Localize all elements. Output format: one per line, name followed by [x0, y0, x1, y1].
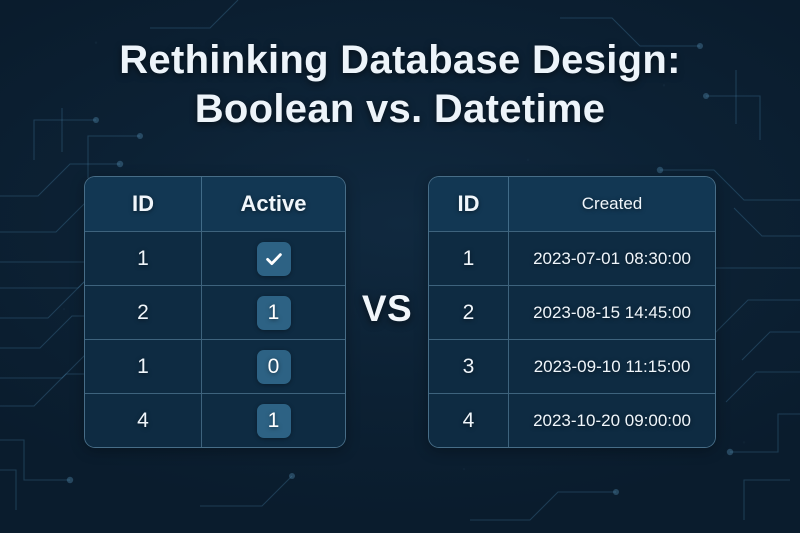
- cell-active: 1: [201, 286, 345, 339]
- cell-id: 2: [429, 286, 508, 339]
- page-title-line-1: Rethinking Database Design:: [0, 36, 800, 85]
- cell-id: 1: [429, 232, 508, 285]
- cell-id: 4: [85, 394, 201, 447]
- table-row[interactable]: 2 1: [85, 285, 345, 339]
- value-badge: 1: [257, 404, 291, 438]
- cell-id: 1: [85, 340, 201, 393]
- cell-id: 1: [85, 232, 201, 285]
- cell-created: 2023-10-20 09:00:00: [508, 394, 715, 447]
- page-title-line-2: Boolean vs. Datetime: [0, 85, 800, 134]
- cell-created: 2023-09-10 11:15:00: [508, 340, 715, 393]
- table-row[interactable]: 1: [85, 231, 345, 285]
- column-header-id: ID: [85, 177, 201, 231]
- column-header-active: Active: [201, 177, 345, 231]
- table-header-row: ID Created: [429, 177, 715, 231]
- table-row[interactable]: 4 2023-10-20 09:00:00: [429, 393, 715, 447]
- cell-id: 3: [429, 340, 508, 393]
- table-row[interactable]: 1 0: [85, 339, 345, 393]
- column-header-created: Created: [508, 177, 715, 231]
- page-title: Rethinking Database Design: Boolean vs. …: [0, 36, 800, 134]
- table-row[interactable]: 3 2023-09-10 11:15:00: [429, 339, 715, 393]
- cell-active: [201, 232, 345, 285]
- value-badge: 1: [257, 296, 291, 330]
- boolean-table: ID Active 1 2 1 1 0: [84, 176, 346, 448]
- cell-active: 1: [201, 394, 345, 447]
- datetime-table: ID Created 1 2023-07-01 08:30:00 2 2023-…: [428, 176, 716, 448]
- value-badge: 0: [257, 350, 291, 384]
- table-row[interactable]: 4 1: [85, 393, 345, 447]
- column-header-id: ID: [429, 177, 508, 231]
- table-row[interactable]: 2 2023-08-15 14:45:00: [429, 285, 715, 339]
- cell-created: 2023-07-01 08:30:00: [508, 232, 715, 285]
- cell-active: 0: [201, 340, 345, 393]
- table-header-row: ID Active: [85, 177, 345, 231]
- check-icon: [257, 242, 291, 276]
- versus-label: VS: [346, 288, 428, 330]
- cell-id: 4: [429, 394, 508, 447]
- table-row[interactable]: 1 2023-07-01 08:30:00: [429, 231, 715, 285]
- cell-id: 2: [85, 286, 201, 339]
- cell-created: 2023-08-15 14:45:00: [508, 286, 715, 339]
